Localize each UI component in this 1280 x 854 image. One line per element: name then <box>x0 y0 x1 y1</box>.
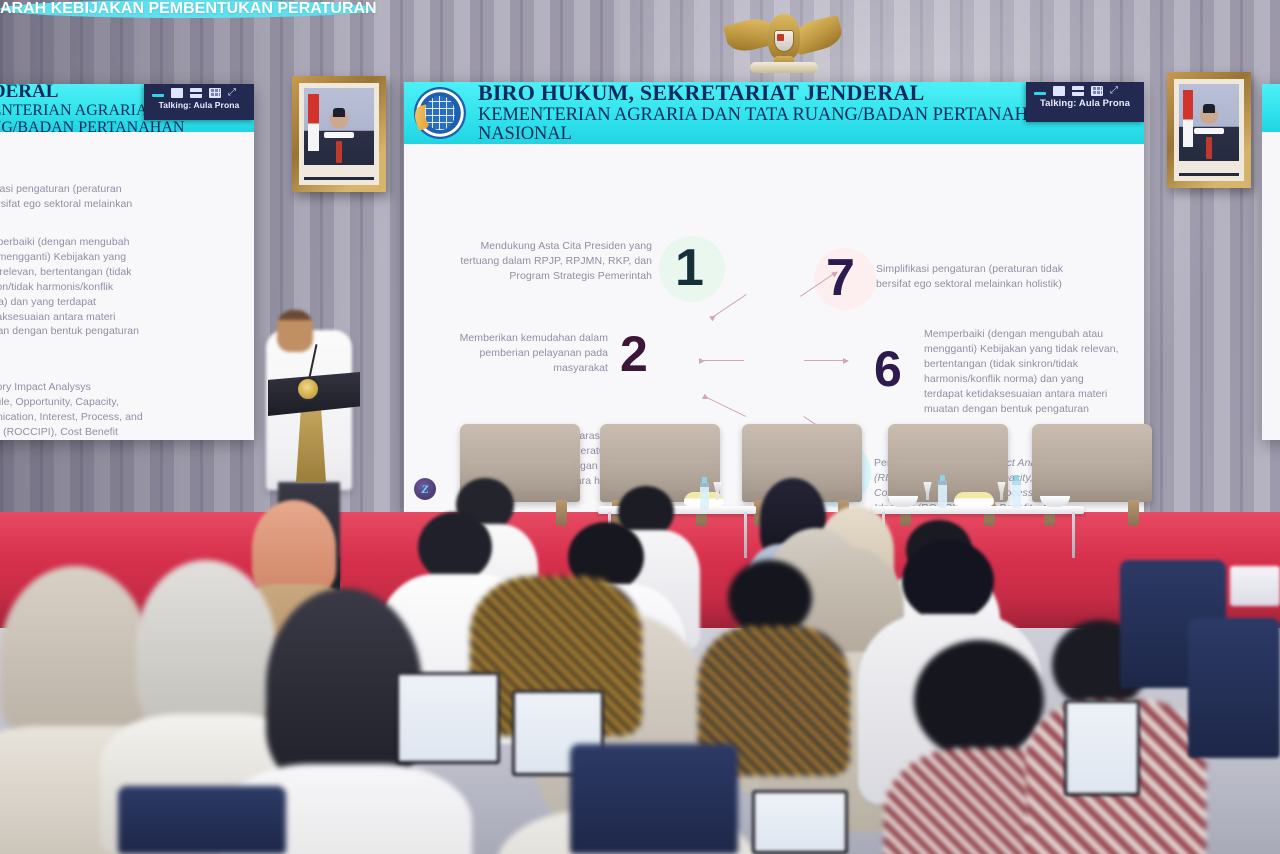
grid-view-icon[interactable] <box>209 88 221 98</box>
slide-logo-badge: Z <box>414 478 436 500</box>
logo-globe-grid <box>425 96 454 129</box>
laptop[interactable] <box>1064 700 1140 796</box>
atr-bpn-globe-logo-icon <box>414 87 466 139</box>
talking-status-label: Talking: Aula Prona <box>1026 98 1144 112</box>
water-bottle <box>700 482 709 510</box>
item-text-7: Simplifikasi pengaturan (peraturan tidak… <box>876 262 1068 292</box>
podium-stem <box>296 410 326 482</box>
pancasila-shield <box>774 30 794 52</box>
portrait-photo <box>304 88 374 180</box>
slide-body-left: 7 Simplifikasi pengaturan (peraturan tid… <box>0 132 254 440</box>
single-view-icon[interactable] <box>1053 86 1065 96</box>
video-control-bar-left[interactable]: ⤢ Talking: Aula Prona <box>144 84 254 120</box>
table-leg <box>1072 512 1075 558</box>
talking-status-label: Talking: Aula Prona <box>144 100 254 113</box>
portrait-photo <box>1179 84 1239 176</box>
video-control-icons-left[interactable]: ⤢ <box>144 84 254 100</box>
portrait-collar <box>1194 128 1224 134</box>
arrow-to-1 <box>711 294 746 317</box>
portrait-collar <box>324 132 354 138</box>
slide-header-right <box>1262 84 1280 132</box>
minimize-icon[interactable] <box>1034 92 1046 95</box>
split-view-icon[interactable] <box>190 88 202 98</box>
audience-chair <box>1188 618 1280 758</box>
secondary-screen-right[interactable] <box>1262 84 1280 440</box>
portrait-mat <box>1174 79 1244 181</box>
single-view-icon[interactable] <box>171 88 183 98</box>
portrait-tie <box>1206 137 1212 159</box>
sofa-leg <box>556 500 567 526</box>
item-text-5: Regulatory Impact Analysys (RIA)/Rule, O… <box>0 380 145 440</box>
laptop[interactable] <box>396 672 500 764</box>
water-bottle <box>938 480 947 508</box>
portrait-tie <box>336 141 342 163</box>
stage-coffee-table <box>872 506 1084 514</box>
item-number-6: 6 <box>874 344 902 394</box>
fruit-plate <box>954 492 994 506</box>
portrait-president <box>292 76 386 192</box>
water-bottle <box>1012 480 1021 508</box>
expand-icon[interactable]: ⤢ <box>228 88 240 98</box>
sofa-leg <box>1128 500 1139 526</box>
arrow-to-3 <box>705 396 746 416</box>
item-text-1: Mendukung Asta Cita Presiden yang tertua… <box>456 239 652 284</box>
table-leg <box>744 512 747 558</box>
portrait-caption <box>304 165 374 177</box>
audience-table <box>1230 566 1280 606</box>
grid-view-icon[interactable] <box>1091 86 1103 96</box>
portrait-mat <box>299 83 379 185</box>
item-text-6: Memperbaiki (dengan mengubah atau mengga… <box>0 235 140 339</box>
stage-sofa <box>1032 424 1152 502</box>
portrait-caption <box>1179 161 1239 173</box>
split-view-icon[interactable] <box>1072 86 1084 96</box>
secondary-screen-left[interactable]: BIRO HUKUM, SEKRETARIAT JENDERAL KEMENTE… <box>0 84 254 440</box>
item-number-7: 7 <box>826 252 855 304</box>
expand-icon[interactable]: ⤢ <box>1110 86 1122 96</box>
video-control-bar[interactable]: ⤢ Talking: Aula Prona <box>1026 82 1144 122</box>
stage-sofa <box>888 424 1008 502</box>
video-control-icons[interactable]: ⤢ <box>1026 82 1144 98</box>
speaker-head <box>277 310 313 352</box>
item-text-7: Simplifikasi pengaturan (peraturan tidak… <box>0 182 142 227</box>
item-text-2: Memberikan kemudahan dalam pemberian pel… <box>432 331 608 376</box>
garuda-pancasila-emblem-icon <box>724 4 844 78</box>
audience-chair <box>118 786 286 854</box>
podium-emblem-icon <box>296 377 320 401</box>
portrait-vice-president <box>1167 72 1251 188</box>
item-number-1: 1 <box>675 242 704 294</box>
item-number-2: 2 <box>620 329 648 379</box>
center-circle-label: ARAH KEBIJAKAN PEMBENTUKAN PERATURAN <box>0 0 377 18</box>
laptop[interactable] <box>752 790 848 854</box>
minimize-icon[interactable] <box>152 94 164 97</box>
item-text-6: Memperbaiki (dengan mengubah atau mengga… <box>924 327 1124 416</box>
garuda-ribbon <box>750 62 818 73</box>
audience-chair <box>570 744 738 854</box>
